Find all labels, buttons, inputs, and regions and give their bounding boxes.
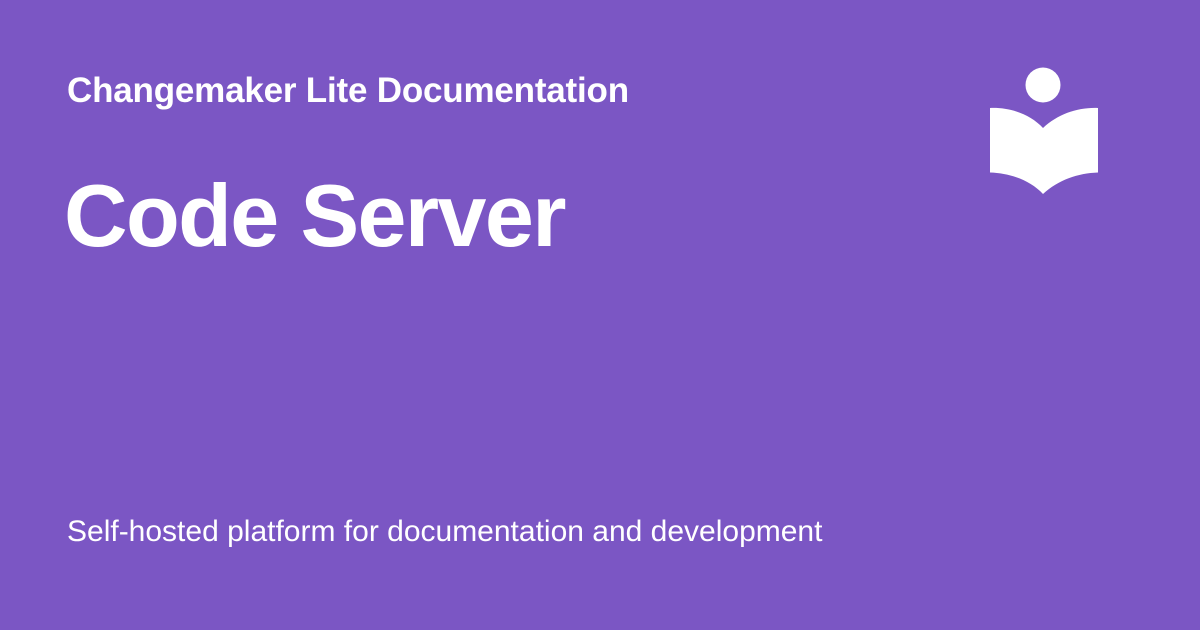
book-left-page-shape — [990, 108, 1043, 194]
open-book-reader-icon — [986, 62, 1102, 202]
site-name-eyebrow: Changemaker Lite Documentation — [67, 70, 629, 112]
page-subtitle: Self-hosted platform for documentation a… — [67, 513, 822, 551]
book-right-page-shape — [1043, 108, 1098, 194]
documentation-social-card: Changemaker Lite Documentation Code Serv… — [0, 0, 1200, 630]
page-title: Code Server — [64, 164, 565, 268]
reader-head-shape — [1026, 68, 1061, 103]
